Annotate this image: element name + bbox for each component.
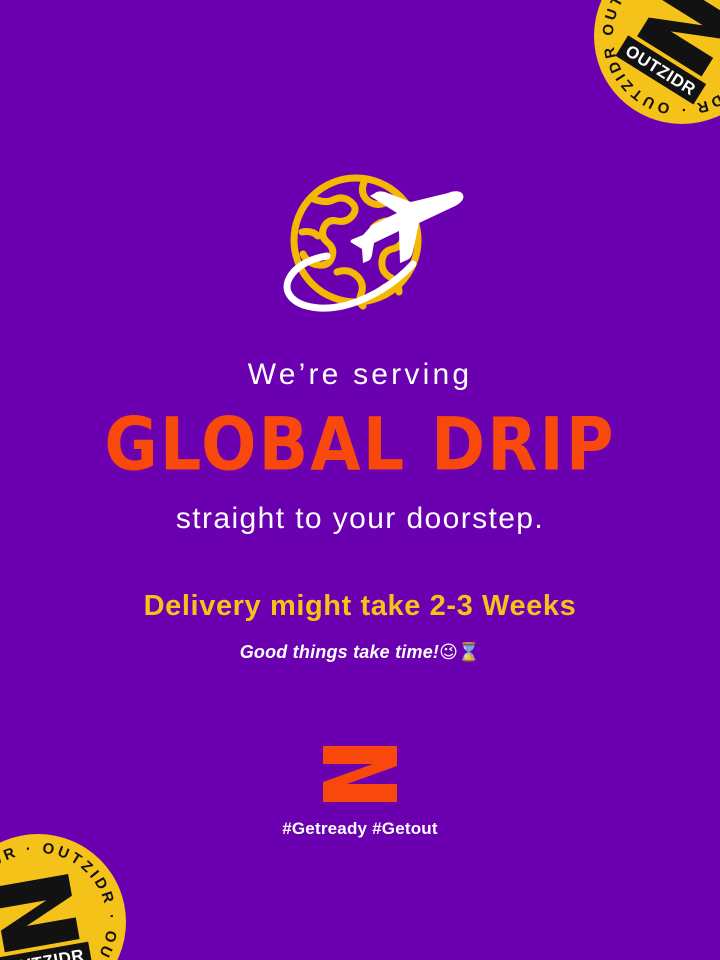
- outzidr-sticker-top-right: OUTZIDR · OUTZIDR · OUTZIDR · OUTZIDR · …: [592, 0, 720, 126]
- subline-text: straight to your doorstep.: [0, 504, 720, 534]
- tagline: Good things take time!😉⌛: [0, 643, 720, 662]
- footer-lockup: #Getready #Getout: [0, 744, 720, 837]
- globe-airplane-icon: [245, 168, 475, 323]
- outzidr-sticker-bottom-left: OUTZIDR · OUTZIDR · OUTZIDR · OUTZIDR · …: [0, 832, 128, 960]
- page-title: GLOBAL DRIP: [0, 408, 720, 481]
- tagline-text: Good things take time!: [240, 642, 439, 662]
- hero-illustration: [0, 168, 720, 323]
- hashtags-text: #Getready #Getout: [282, 820, 438, 837]
- delivery-note: Delivery might take 2-3 Weeks: [0, 592, 720, 621]
- tagline-emoji: 😉⌛: [439, 642, 480, 663]
- copy-block: We’re serving GLOBAL DRIP straight to yo…: [0, 360, 720, 662]
- eyebrow-text: We’re serving: [0, 360, 720, 390]
- z-logo-mark: [321, 744, 399, 804]
- promo-poster: We’re serving GLOBAL DRIP straight to yo…: [0, 0, 720, 960]
